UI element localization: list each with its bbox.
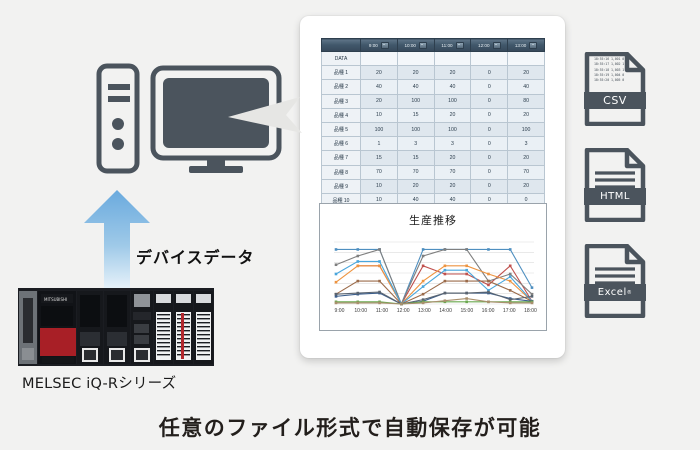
cell[interactable]: [471, 52, 508, 66]
chevron-down-icon[interactable]: [529, 42, 537, 49]
chart-x-axis: 9:0010:0011:0012:0013:0014:0015:0016:001…: [330, 308, 540, 314]
chart-data-point: [465, 273, 468, 276]
cell[interactable]: 1: [361, 137, 398, 151]
cell[interactable]: 0: [471, 108, 508, 122]
chart-data-point: [487, 284, 490, 287]
chart-x-tick-label: 18:00: [521, 308, 540, 314]
chart-plot-area: [334, 240, 534, 306]
cell[interactable]: [508, 52, 545, 66]
row-label: DATA: [322, 52, 361, 66]
table-row[interactable]: 品種 5 100 100 100 0 100: [322, 122, 545, 136]
chart-x-tick-label: 17:00: [500, 308, 519, 314]
chart-data-point: [444, 248, 447, 251]
chart-data-point: [378, 248, 381, 251]
column-header-2[interactable]: 11:00: [434, 39, 471, 52]
row-label: 品種 6: [322, 137, 361, 151]
row-label: 品種 5: [322, 122, 361, 136]
cell[interactable]: 40: [361, 80, 398, 94]
cell[interactable]: 20: [361, 94, 398, 108]
table-header: 9:00 10:00 11:00: [322, 39, 545, 52]
excel-format-text: Excel: [598, 287, 627, 298]
cell[interactable]: 0: [471, 66, 508, 80]
cell[interactable]: 15: [361, 151, 398, 165]
cell[interactable]: [434, 52, 471, 66]
chart-data-point: [335, 273, 338, 276]
cell[interactable]: 40: [434, 80, 471, 94]
cell[interactable]: 0: [471, 80, 508, 94]
plc-rack-image: MITSUBISHI: [18, 288, 214, 366]
chart-data-point: [465, 280, 468, 283]
cell[interactable]: 20: [434, 179, 471, 193]
chart-data-point: [356, 260, 359, 263]
cell[interactable]: 15: [397, 108, 434, 122]
chart-data-point: [444, 265, 447, 268]
row-label: 品種 8: [322, 165, 361, 179]
row-label: 品種 2: [322, 80, 361, 94]
chart-data-point: [422, 293, 425, 296]
up-arrow-icon: [84, 190, 150, 290]
cell[interactable]: 20: [397, 66, 434, 80]
page-caption: 任意のファイル形式で自動保存が可能: [0, 412, 700, 442]
cell[interactable]: 40: [508, 80, 545, 94]
table-body[interactable]: DATA 品種 1 20 20 20 0 20 品種 2: [322, 52, 545, 208]
chart-data-point: [422, 280, 425, 283]
chart-data-point: [465, 265, 468, 268]
cell[interactable]: [361, 52, 398, 66]
chart-data-point: [465, 301, 468, 304]
screenshot-root: 9:00 10:00 11:00: [0, 0, 700, 450]
file-shape-icon: [584, 148, 646, 222]
chart-data-point: [465, 269, 468, 272]
cell[interactable]: 100: [508, 122, 545, 136]
table-corner-cell: [322, 39, 361, 52]
chart-data-point: [444, 273, 447, 276]
column-header-1[interactable]: 10:00: [397, 39, 434, 52]
cell[interactable]: 70: [397, 165, 434, 179]
cell[interactable]: 15: [397, 151, 434, 165]
cell[interactable]: 100: [434, 94, 471, 108]
plc-product-label: MELSEC iQ-Rシリーズ: [22, 372, 176, 393]
cell[interactable]: 100: [397, 122, 434, 136]
chart-data-point: [378, 260, 381, 263]
csv-preview-text: 18:55:16 1,001 0 18:55:17 1,002 1 18:55:…: [594, 57, 638, 84]
chart-x-tick-label: 9:00: [330, 308, 349, 314]
cell[interactable]: 20: [508, 108, 545, 122]
cell[interactable]: 0: [471, 137, 508, 151]
cell[interactable]: 20: [508, 151, 545, 165]
cell[interactable]: 20: [508, 179, 545, 193]
cell[interactable]: 3: [434, 137, 471, 151]
svg-text:MITSUBISHI: MITSUBISHI: [44, 297, 67, 302]
table-row[interactable]: DATA: [322, 52, 545, 66]
chart-data-point: [465, 248, 468, 251]
chart-x-tick-label: 13:00: [415, 308, 434, 314]
table-row[interactable]: 品種 9 10 20 20 0 20: [322, 179, 545, 193]
chart-series-line: [336, 266, 532, 304]
file-shape-icon: [584, 244, 646, 318]
row-label: 品種 1: [322, 66, 361, 80]
csv-file-icon[interactable]: 18:55:16 1,001 0 18:55:17 1,002 1 18:55:…: [584, 52, 646, 126]
table-row[interactable]: 品種 2 40 40 40 0 40: [322, 80, 545, 94]
chart-x-tick-label: 11:00: [372, 308, 391, 314]
cell[interactable]: 20: [434, 108, 471, 122]
table-row[interactable]: 品種 8 70 70 70 0 70: [322, 165, 545, 179]
chart-data-point: [531, 302, 534, 305]
cell[interactable]: 100: [361, 122, 398, 136]
chart-data-point: [335, 302, 338, 305]
cell[interactable]: 70: [508, 165, 545, 179]
table-row[interactable]: 品種 7 15 15 20 0 20: [322, 151, 545, 165]
excel-format-label: Excel®: [584, 284, 646, 301]
chart-data-point: [509, 265, 512, 268]
chart-data-point: [487, 301, 490, 304]
chart-data-point: [444, 269, 447, 272]
chart-data-point: [400, 303, 403, 306]
chart-data-point: [356, 280, 359, 283]
chart-data-point: [444, 280, 447, 283]
chart-data-point: [378, 265, 381, 268]
chart-data-point: [356, 255, 359, 258]
chart-data-point: [378, 280, 381, 283]
chart-data-point: [487, 291, 490, 294]
column-header-label-3: 12:00: [478, 43, 490, 48]
chart-data-point: [356, 265, 359, 268]
chart-data-point: [531, 295, 534, 298]
data-flow-beam: [228, 95, 318, 137]
device-data-label: デバイスデータ: [136, 244, 255, 268]
chart-data-point: [509, 273, 512, 276]
chart-data-point: [378, 302, 381, 305]
html-format-label: HTML: [584, 188, 646, 205]
table-row[interactable]: 品種 4 10 15 20 0 20: [322, 108, 545, 122]
excel-file-icon[interactable]: Excel®: [584, 244, 646, 318]
chart-svg: [334, 240, 534, 306]
pc-tower-icon: [99, 66, 137, 171]
chart-x-tick-label: 15:00: [457, 308, 476, 314]
chart-x-tick-label: 12:00: [394, 308, 413, 314]
chart-title: 生産推移: [320, 212, 546, 228]
csv-format-label: CSV: [584, 92, 646, 109]
chart-data-point: [335, 281, 338, 284]
chart-data-point: [422, 255, 425, 258]
chart-data-point: [335, 248, 338, 251]
table-row[interactable]: 品種 1 20 20 20 0 20: [322, 66, 545, 80]
production-trend-chart-card: 生産推移 9:0010:0011:0012:0013:0014:0015:001…: [319, 203, 547, 331]
cell[interactable]: 0: [471, 179, 508, 193]
chart-data-point: [531, 286, 534, 289]
cell[interactable]: [397, 52, 434, 66]
cell[interactable]: 20: [397, 179, 434, 193]
excel-trademark: ®: [627, 290, 633, 296]
chart-data-point: [422, 285, 425, 288]
cell[interactable]: 0: [471, 165, 508, 179]
cell[interactable]: 0: [471, 94, 508, 108]
chart-x-tick-label: 14:00: [436, 308, 455, 314]
data-table-container[interactable]: 9:00 10:00 11:00: [321, 38, 545, 198]
chart-data-point: [335, 293, 338, 296]
cell[interactable]: 20: [434, 66, 471, 80]
table-row[interactable]: 品種 6 1 3 3 0 3: [322, 137, 545, 151]
column-header-4[interactable]: 13:00: [508, 39, 545, 52]
column-header-0[interactable]: 9:00: [361, 39, 398, 52]
chart-data-point: [487, 248, 490, 251]
cell[interactable]: 0: [471, 122, 508, 136]
chart-data-point: [356, 292, 359, 295]
chart-data-point: [378, 291, 381, 294]
cell[interactable]: 70: [434, 165, 471, 179]
cell[interactable]: 70: [361, 165, 398, 179]
html-file-icon[interactable]: HTML: [584, 148, 646, 222]
cell[interactable]: 10: [361, 179, 398, 193]
chart-data-point: [444, 292, 447, 295]
cell[interactable]: 100: [434, 122, 471, 136]
chevron-down-icon[interactable]: [456, 42, 464, 49]
chart-data-point: [487, 280, 490, 283]
chart-data-point: [444, 299, 447, 302]
column-header-3[interactable]: 12:00: [471, 39, 508, 52]
chevron-down-icon[interactable]: [381, 42, 389, 49]
csv-line: 18:55:20 1,005 0: [594, 78, 638, 83]
cell[interactable]: 100: [397, 94, 434, 108]
chart-data-point: [509, 248, 512, 251]
cell[interactable]: 20: [508, 66, 545, 80]
row-label: 品種 4: [322, 108, 361, 122]
column-header-label-2: 11:00: [441, 43, 452, 48]
cell[interactable]: 20: [361, 66, 398, 80]
cell[interactable]: 0: [471, 151, 508, 165]
cell[interactable]: 20: [434, 151, 471, 165]
cell[interactable]: 40: [397, 80, 434, 94]
column-header-label-4: 13:00: [515, 43, 527, 48]
chart-data-point: [356, 302, 359, 305]
chart-data-point: [465, 297, 468, 300]
chart-data-point: [422, 265, 425, 268]
table-header-row: 9:00 10:00 11:00: [322, 39, 545, 52]
chart-data-point: [509, 289, 512, 292]
chart-data-point: [509, 302, 512, 305]
cell[interactable]: 80: [508, 94, 545, 108]
chart-x-tick-label: 16:00: [479, 308, 498, 314]
production-data-table[interactable]: 9:00 10:00 11:00: [321, 38, 545, 208]
row-label: 品種 3: [322, 94, 361, 108]
cell[interactable]: 10: [361, 108, 398, 122]
chevron-down-icon[interactable]: [493, 42, 501, 49]
chart-x-tick-label: 10:00: [351, 308, 370, 314]
chart-data-point: [487, 273, 490, 276]
table-row[interactable]: 品種 3 20 100 100 0 80: [322, 94, 545, 108]
chart-data-point: [465, 292, 468, 295]
chart-data-point: [509, 280, 512, 283]
cell[interactable]: 3: [397, 137, 434, 151]
column-header-label-0: 9:00: [369, 43, 378, 48]
column-header-label-1: 10:00: [404, 43, 416, 48]
chart-data-point: [422, 302, 425, 305]
row-label: 品種 7: [322, 151, 361, 165]
chart-data-point: [422, 248, 425, 251]
cell[interactable]: 3: [508, 137, 545, 151]
row-label: 品種 9: [322, 179, 361, 193]
chart-data-point: [335, 263, 338, 266]
chevron-down-icon[interactable]: [419, 42, 427, 49]
chart-data-point: [509, 275, 512, 278]
chart-data-point: [356, 248, 359, 251]
